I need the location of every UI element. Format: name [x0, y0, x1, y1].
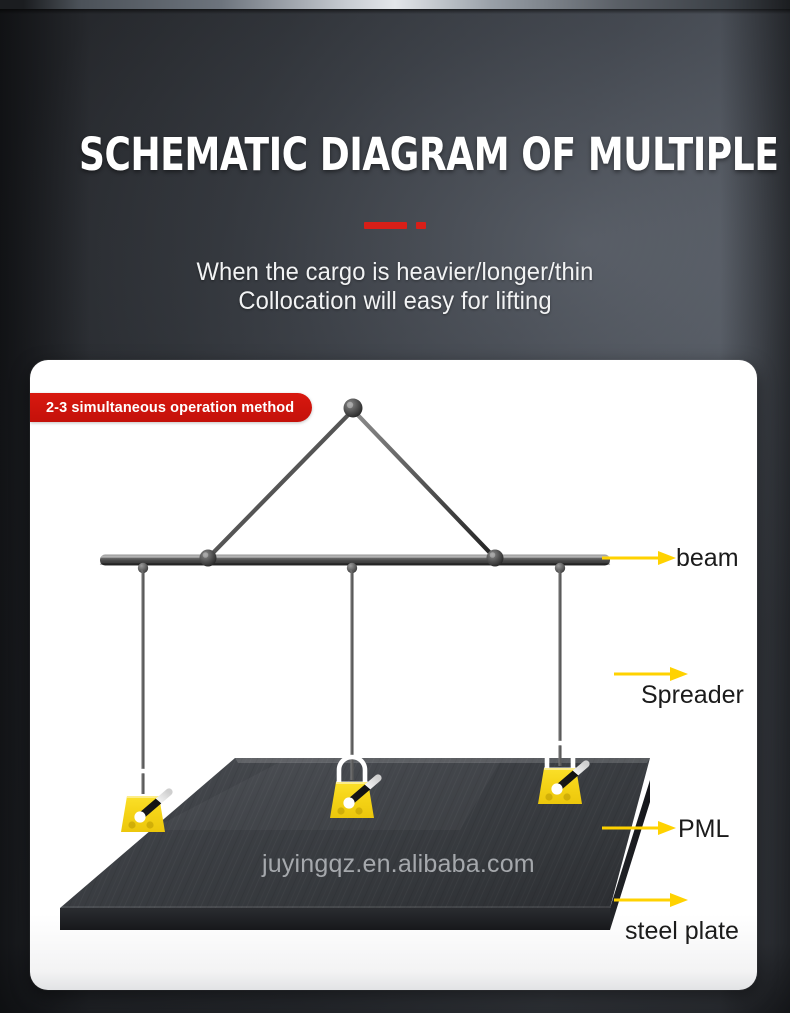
top-strip-shadow — [0, 9, 790, 14]
apex-hook-knob — [344, 399, 363, 418]
pml-bolt-left — [128, 821, 135, 828]
divider-dash-short — [416, 222, 426, 229]
pml-pivot — [134, 811, 145, 822]
pml-body-top-highlight — [544, 767, 576, 770]
pml-arrow — [600, 818, 680, 838]
pml-pivot — [343, 797, 354, 808]
divider-dash-long — [364, 222, 407, 229]
pml-bolt-right — [146, 821, 153, 828]
pml-bolt-left — [545, 793, 552, 800]
lifter-assembly-3 — [538, 563, 586, 804]
pml-pivot — [551, 783, 562, 794]
subtitle-line-2: Collocation will easy for lifting — [20, 287, 771, 316]
crane-slings — [208, 410, 495, 558]
subtitle-block: When the cargo is heavier/longer/thin Co… — [0, 258, 790, 316]
title-divider — [0, 222, 790, 229]
callout-label-spreader: Spreader — [641, 681, 744, 710]
callout-label-pml: PML — [678, 815, 729, 844]
permanent-magnetic-lifter — [121, 771, 169, 832]
top-metal-strip — [0, 0, 790, 9]
beam-arrow — [600, 548, 680, 568]
apex-knob-highlight — [347, 402, 353, 408]
pml-body-top-highlight — [336, 781, 368, 784]
steel-plate-arrow — [612, 890, 692, 910]
page-root: SCHEMATIC DIAGRAM OF MULTIPLE CRANES Whe… — [0, 0, 790, 1013]
callout-label-steel-plate: steel plate — [625, 917, 739, 946]
pml-bolt-left — [337, 807, 344, 814]
permanent-magnetic-lifter — [538, 743, 586, 804]
pml-bolt-right — [355, 807, 362, 814]
subtitle-line-1: When the cargo is heavier/longer/thin — [20, 258, 771, 287]
callout-label-beam: beam — [676, 544, 739, 573]
pml-body-top-highlight — [127, 795, 159, 798]
lifter-assembly-1 — [121, 563, 169, 832]
pml-bolt-right — [563, 793, 570, 800]
page-title: SCHEMATIC DIAGRAM OF MULTIPLE CRANES — [79, 128, 711, 181]
